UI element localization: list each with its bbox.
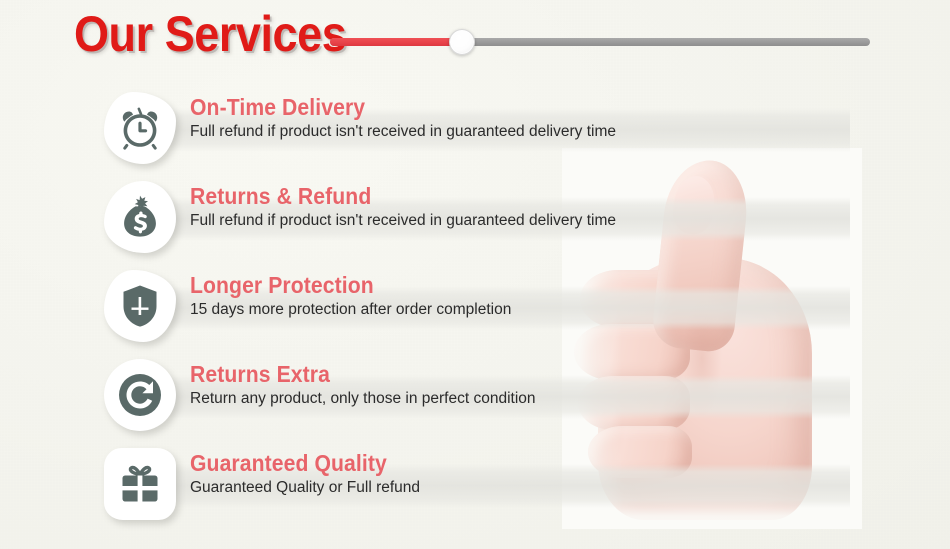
list-item[interactable]: On-Time Delivery Full refund if product … (0, 84, 950, 173)
slider-knob[interactable] (449, 29, 475, 55)
service-description: Full refund if product isn't received in… (190, 123, 830, 142)
page-title: Our Services (74, 8, 346, 61)
list-item[interactable]: Longer Protection 15 days more protectio… (0, 262, 950, 351)
service-title: Returns & Refund (190, 183, 779, 209)
list-item[interactable]: Guaranteed Quality Guaranteed Quality or… (0, 440, 950, 529)
banner-header: Our Services (0, 0, 950, 84)
slider-fill (330, 38, 464, 46)
shield-icon (116, 282, 164, 330)
our-services-banner: Our Services (0, 0, 950, 549)
service-title: On-Time Delivery (190, 94, 779, 120)
service-title: Returns Extra (190, 361, 779, 387)
progress-slider[interactable] (330, 30, 870, 54)
service-description: 15 days more protection after order comp… (190, 301, 830, 320)
services-list: On-Time Delivery Full refund if product … (0, 84, 950, 529)
service-text-block: Returns Extra Return any product, only t… (190, 361, 830, 409)
service-text-block: Returns & Refund Full refund if product … (190, 183, 830, 231)
service-text-block: Guaranteed Quality Guaranteed Quality or… (190, 450, 830, 498)
service-text-block: Longer Protection 15 days more protectio… (190, 272, 830, 320)
alarm-clock-icon (116, 104, 164, 152)
service-title: Longer Protection (190, 272, 779, 298)
service-text-block: On-Time Delivery Full refund if product … (190, 94, 830, 142)
service-description: Guaranteed Quality or Full refund (190, 479, 830, 498)
money-bag-icon (116, 193, 164, 241)
service-description: Full refund if product isn't received in… (190, 212, 830, 231)
service-description: Return any product, only those in perfec… (190, 390, 830, 409)
service-icon-badge (100, 444, 180, 524)
refresh-circle-icon (116, 371, 164, 419)
service-icon-badge (100, 266, 180, 346)
gift-box-icon (116, 460, 164, 508)
service-icon-badge (100, 177, 180, 257)
service-title: Guaranteed Quality (190, 450, 779, 476)
service-icon-badge (100, 88, 180, 168)
list-item[interactable]: Returns & Refund Full refund if product … (0, 173, 950, 262)
list-item[interactable]: Returns Extra Return any product, only t… (0, 351, 950, 440)
service-icon-badge (100, 355, 180, 435)
